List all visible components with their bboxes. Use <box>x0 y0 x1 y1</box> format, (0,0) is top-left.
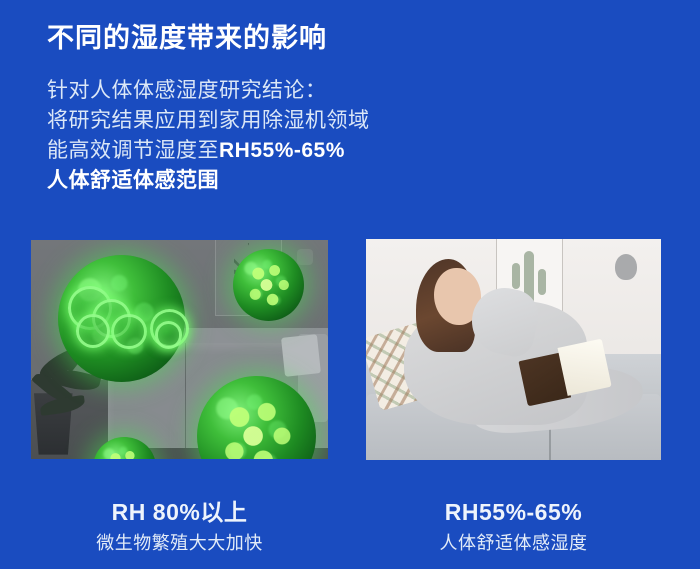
page-title: 不同的湿度带来的影响 <box>47 20 647 56</box>
wall-fixture-icon <box>615 254 637 280</box>
caption-title: RH55%-65% <box>366 497 661 527</box>
body-copy-block: 针对人体体感湿度研究结论： 将研究结果应用到家用除湿机领域 能高效调节湿度至RH… <box>47 76 607 196</box>
caption-comfort-humidity: RH55%-65% 人体舒适体感湿度 <box>366 497 661 556</box>
humidity-impact-poster: 不同的湿度带来的影响 针对人体体感湿度研究结论： 将研究结果应用到家用除湿机领域… <box>0 0 700 569</box>
body-copy-line-3-prefix: 能高效调节湿度至 <box>47 139 219 162</box>
body-copy-line-1: 针对人体体感湿度研究结论： <box>47 76 607 106</box>
caption-subtitle: 人体舒适体感湿度 <box>366 530 661 556</box>
body-copy-line-2: 将研究结果应用到家用除湿机领域 <box>47 106 607 136</box>
bright-living-room-scene <box>366 239 661 460</box>
microbe-sphere-small-top <box>233 249 304 321</box>
dark-living-room-scene <box>31 240 328 459</box>
wall-fixture-icon <box>297 249 313 265</box>
caption-title: RH 80%以上 <box>31 497 328 527</box>
caption-subtitle: 微生物繁殖大大加快 <box>31 530 328 556</box>
microbe-ring <box>76 314 110 348</box>
microbe-ring <box>111 314 146 349</box>
body-copy-line-4: 人体舒适体感范围 <box>47 166 607 196</box>
humidity-range-highlight: RH55%-65% <box>219 139 345 162</box>
caption-high-humidity: RH 80%以上 微生物繁殖大大加快 <box>31 497 328 556</box>
sofa-cushion <box>282 335 322 378</box>
sofa-seam <box>185 343 186 448</box>
body-copy-line-3: 能高效调节湿度至RH55%-65% <box>47 136 607 166</box>
microbe-sphere-large <box>58 255 186 382</box>
photo-comfort-humidity <box>366 239 661 460</box>
photo-high-humidity <box>31 240 328 459</box>
